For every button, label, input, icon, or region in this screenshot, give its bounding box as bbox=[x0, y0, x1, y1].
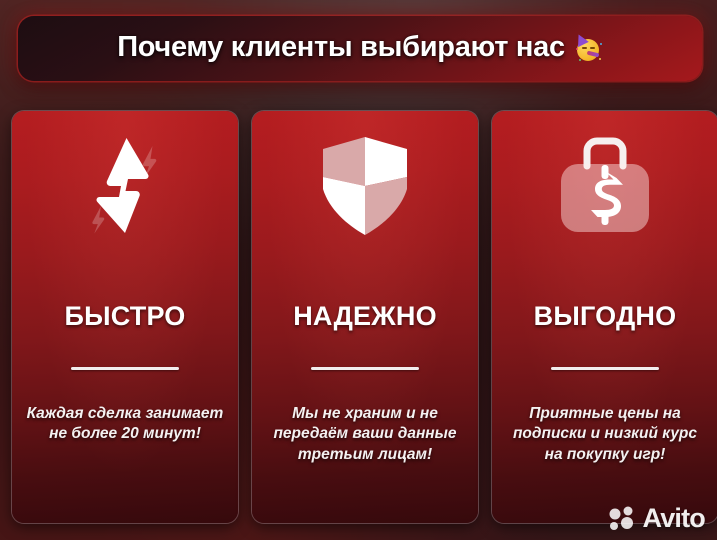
card-divider bbox=[71, 367, 179, 370]
page-title: Почему клиенты выбирают нас bbox=[117, 31, 565, 64]
briefcase-dollar-icon bbox=[492, 111, 717, 261]
card-divider bbox=[551, 367, 659, 370]
card-title: НАДЕЖНО bbox=[293, 303, 437, 330]
card-title: БЫСТРО bbox=[64, 303, 185, 330]
card-description: Приятные цены на подписки и низкий курс … bbox=[492, 404, 717, 465]
feature-card-row: БЫСТРО Каждая сделка занимает не более 2… bbox=[12, 111, 717, 523]
header-banner: Почему клиенты выбирают нас bbox=[18, 16, 702, 81]
feature-card-fast[interactable]: БЫСТРО Каждая сделка занимает не более 2… bbox=[12, 111, 238, 523]
card-description: Каждая сделка занимает не более 20 минут… bbox=[12, 404, 238, 445]
shield-icon bbox=[252, 111, 478, 261]
promo-image: Почему клиенты выбирают нас bbox=[0, 0, 717, 540]
card-divider bbox=[311, 367, 419, 370]
feature-card-reliable[interactable]: НАДЕЖНО Мы не храним и не передаём ваши … bbox=[252, 111, 478, 523]
card-description: Мы не храним и не передаём ваши данные т… bbox=[252, 404, 478, 465]
partying-face-emoji bbox=[575, 34, 603, 62]
lightning-bolt-icon bbox=[12, 111, 238, 261]
avito-watermark: Avito bbox=[609, 505, 706, 532]
avito-dots-logo bbox=[609, 506, 639, 532]
avito-wordmark: Avito bbox=[643, 505, 706, 532]
feature-card-profitable[interactable]: ВЫГОДНО Приятные цены на подписки и низк… bbox=[492, 111, 717, 523]
card-title: ВЫГОДНО bbox=[534, 303, 677, 330]
